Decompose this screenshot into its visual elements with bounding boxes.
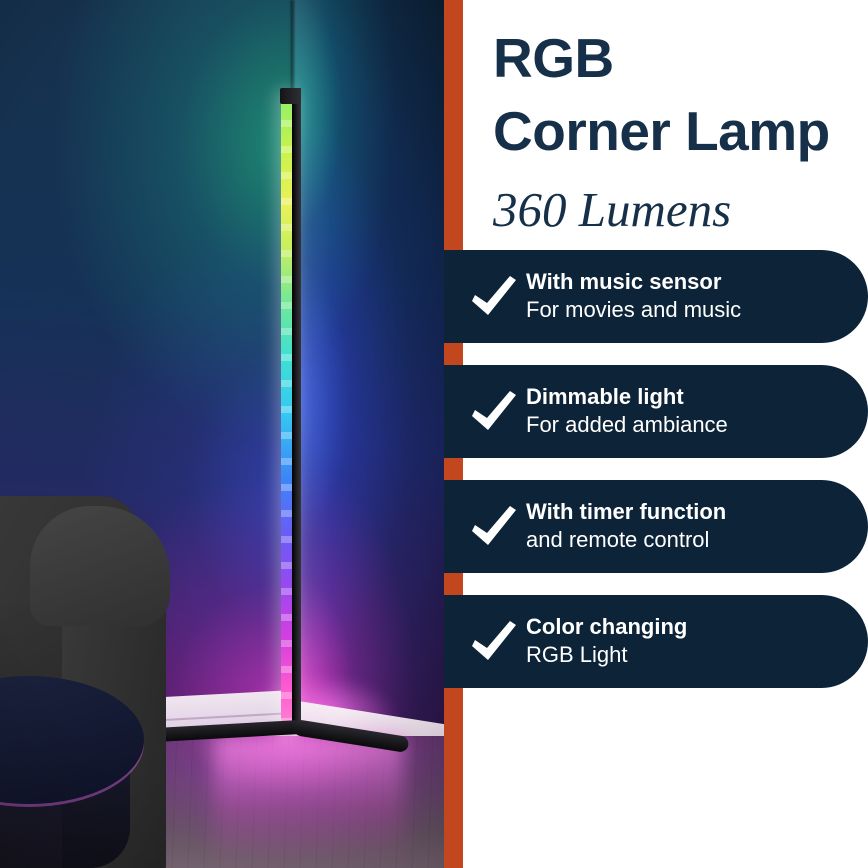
rgb-corner-lamp — [281, 88, 301, 734]
feature-text: Color changing RGB Light — [526, 613, 687, 670]
feature-card-color-changing: Color changing RGB Light — [444, 595, 868, 688]
product-title-line-1: RGB — [493, 22, 868, 95]
feature-desc: For added ambiance — [526, 411, 728, 440]
feature-text: Dimmable light For added ambiance — [526, 383, 728, 440]
feature-card-timer-function: With timer function and remote control — [444, 480, 868, 573]
check-icon — [444, 390, 526, 434]
lamp-body — [292, 88, 301, 734]
feature-text: With timer function and remote control — [526, 498, 726, 555]
lamp-top-cap — [280, 88, 301, 104]
lamp-led-strip — [281, 94, 292, 734]
check-icon — [444, 275, 526, 319]
product-subtitle: 360 Lumens — [493, 183, 868, 237]
product-title-block: RGB Corner Lamp 360 Lumens — [493, 22, 868, 237]
product-banner: RGB Corner Lamp 360 Lumens With music se… — [0, 0, 868, 868]
feature-text: With music sensor For movies and music — [526, 268, 741, 325]
feature-card-dimmable-light: Dimmable light For added ambiance — [444, 365, 868, 458]
floor-reflection — [214, 736, 404, 868]
feature-title: Color changing — [526, 613, 687, 641]
feature-card-music-sensor: With music sensor For movies and music — [444, 250, 868, 343]
check-icon — [444, 505, 526, 549]
info-panel: RGB Corner Lamp 360 Lumens With music se… — [463, 0, 868, 868]
feature-desc: For movies and music — [526, 296, 741, 325]
feature-list: With music sensor For movies and music D… — [444, 250, 868, 710]
product-title-line-2: Corner Lamp — [493, 95, 868, 168]
check-icon — [444, 620, 526, 664]
feature-title: With music sensor — [526, 268, 741, 296]
feature-desc: and remote control — [526, 526, 726, 555]
feature-desc: RGB Light — [526, 641, 687, 670]
product-photo — [0, 0, 444, 868]
feature-title: With timer function — [526, 498, 726, 526]
feature-title: Dimmable light — [526, 383, 728, 411]
